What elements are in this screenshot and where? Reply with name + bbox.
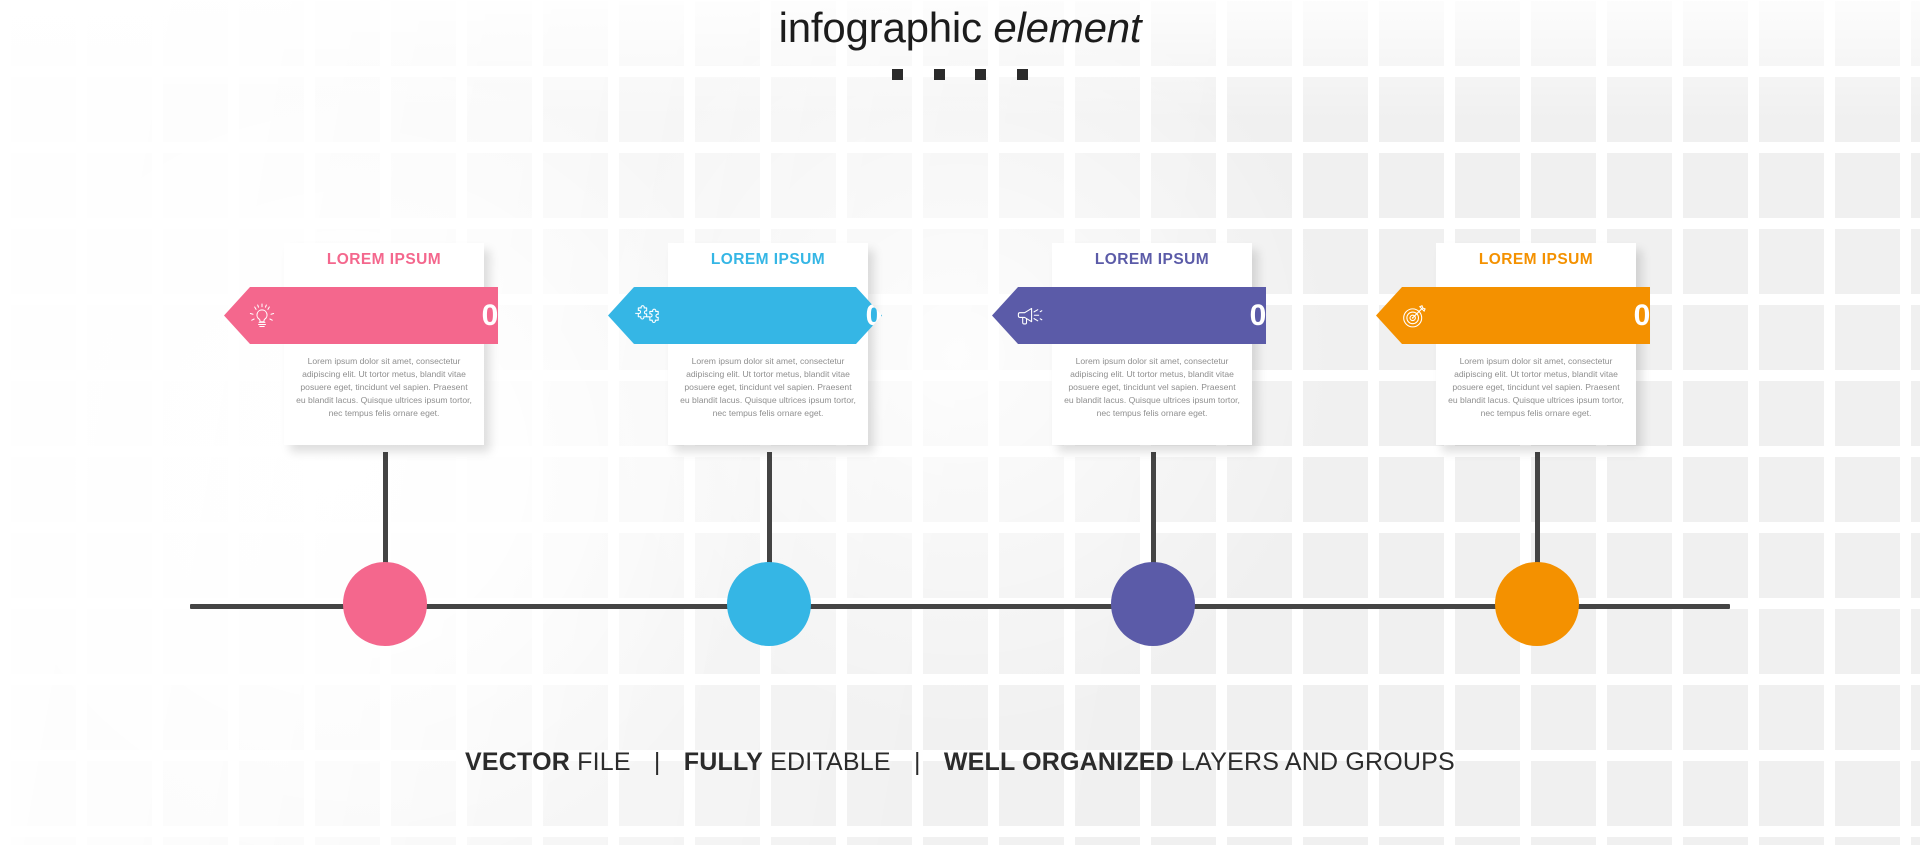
step-card-4[interactable]: LOREM IPSUM 04 Lorem ipsum dolor sit ame… [1436, 243, 1636, 453]
page-title-regular: infographic [779, 4, 982, 51]
card-body-4: Lorem ipsum dolor sit amet, consectetur … [1448, 355, 1624, 420]
step-card-2[interactable]: LOREM IPSUM 02 Lorem ipsum dolor sit ame… [668, 243, 868, 453]
card-title-3: LOREM IPSUM [1052, 251, 1252, 269]
timeline-node-1[interactable] [343, 562, 427, 646]
footer-seg3-rest: LAYERS AND GROUPS [1181, 748, 1455, 776]
footer-caption: VECTOR FILE | FULLY EDITABLE | WELL ORGA… [0, 748, 1920, 777]
card-banner-3[interactable]: 03 [992, 287, 1302, 344]
card-banner-4[interactable]: 04 [1376, 287, 1686, 344]
footer-seg2-rest: EDITABLE [770, 748, 891, 776]
card-body-3: Lorem ipsum dolor sit amet, consectetur … [1064, 355, 1240, 420]
lightbulb-icon [242, 296, 282, 336]
title-dot [892, 69, 903, 80]
page-title: infographic element [0, 6, 1920, 50]
card-title-1: LOREM IPSUM [284, 251, 484, 269]
footer-separator: | [638, 748, 677, 777]
page-title-italic: element [993, 4, 1141, 51]
footer-seg1-bold: VECTOR [465, 748, 570, 776]
title-dots-decoration [0, 66, 1920, 84]
footer-seg3-bold: WELL ORGANIZED [944, 748, 1174, 776]
card-title-4: LOREM IPSUM [1436, 251, 1636, 269]
card-banner-1[interactable]: 01 [224, 287, 534, 344]
card-body-2: Lorem ipsum dolor sit amet, consectetur … [680, 355, 856, 420]
footer-seg1-rest: FILE [577, 748, 631, 776]
timeline-node-3[interactable] [1111, 562, 1195, 646]
timeline-node-4[interactable] [1495, 562, 1579, 646]
card-body-1: Lorem ipsum dolor sit amet, consectetur … [296, 355, 472, 420]
card-title-2: LOREM IPSUM [668, 251, 868, 269]
target-icon [1394, 296, 1434, 336]
step-card-1[interactable]: LOREM IPSUM 01 Lorem ipsum dolor sit ame… [284, 243, 484, 453]
megaphone-icon [1010, 296, 1050, 336]
title-dot [975, 69, 986, 80]
puzzle-icon [626, 296, 666, 336]
footer-separator: | [898, 748, 937, 777]
title-dot [934, 69, 945, 80]
title-dot [1017, 69, 1028, 80]
timeline-node-2[interactable] [727, 562, 811, 646]
footer-seg2-bold: FULLY [684, 748, 763, 776]
step-card-3[interactable]: LOREM IPSUM 03 Lorem ipsum dolor sit ame… [1052, 243, 1252, 453]
